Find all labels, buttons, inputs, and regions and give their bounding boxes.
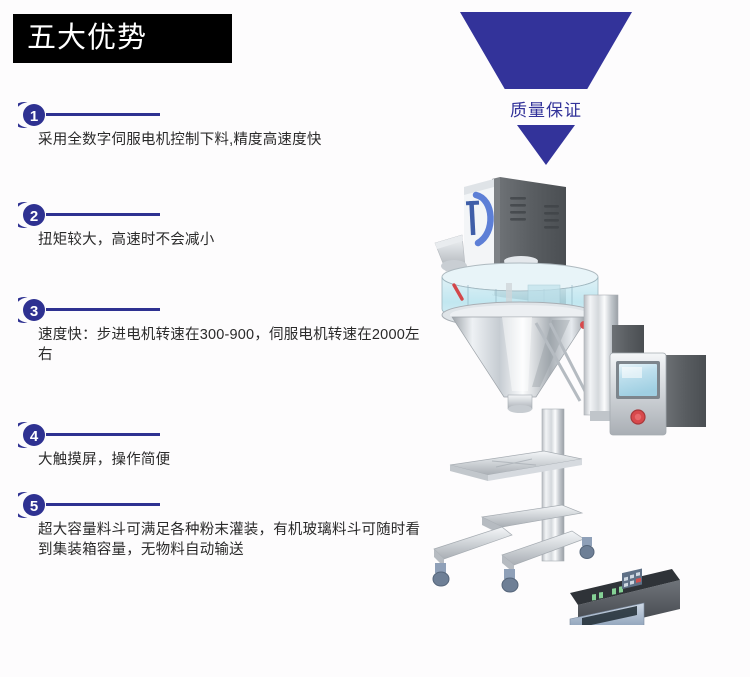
number-badge-5-icon: 5 [18, 490, 48, 520]
weighing-scale[interactable] [570, 569, 680, 625]
advantage-underline-3 [46, 308, 160, 311]
auger-cone [452, 317, 588, 413]
advantage-text-2: 扭矩较大，高速时不会减小 [38, 230, 428, 250]
advantage-text-4: 大触摸屏，操作简便 [38, 450, 428, 470]
advantage-underline-2 [46, 213, 160, 216]
funnel-top-trapezoid-shape [460, 12, 632, 89]
svg-text:3: 3 [30, 303, 38, 320]
advantage-underline-4 [46, 433, 160, 436]
number-badge-2-icon: 2 [18, 200, 48, 230]
svg-text:2: 2 [30, 208, 38, 225]
page-title-banner: 五大优势 [13, 14, 232, 63]
advantage-underline-1 [46, 113, 160, 116]
advantage-text-3: 速度快：步进电机转速在300-900，伺服电机转速在2000左右 [38, 325, 428, 365]
number-badge-3-icon: 3 [18, 295, 48, 325]
svg-text:1: 1 [30, 108, 38, 125]
svg-text:4: 4 [30, 428, 39, 445]
number-badge-4-icon: 4 [18, 420, 48, 450]
product-photo-filling-machine [432, 165, 750, 625]
number-badge-1-icon: 1 [18, 100, 48, 130]
inlet-chute [435, 235, 467, 272]
funnel-bottom-triangle-shape [517, 125, 575, 165]
control-panel[interactable] [610, 353, 666, 435]
rolling-base-frame [434, 505, 584, 573]
quality-assurance-funnel: 质量保证 [455, 12, 650, 182]
page-title: 五大优势 [13, 24, 147, 53]
quality-assurance-label: 质量保证 [455, 96, 637, 121]
svg-text:5: 5 [30, 498, 38, 515]
advantage-text-1: 采用全数字伺服电机控制下料,精度高速度快 [38, 130, 428, 150]
advantage-underline-5 [46, 503, 160, 506]
advantage-text-5: 超大容量料斗可满足各种粉末灌装，有机玻璃料斗可随时看到集装箱容量，无物料自动输送 [38, 520, 428, 560]
